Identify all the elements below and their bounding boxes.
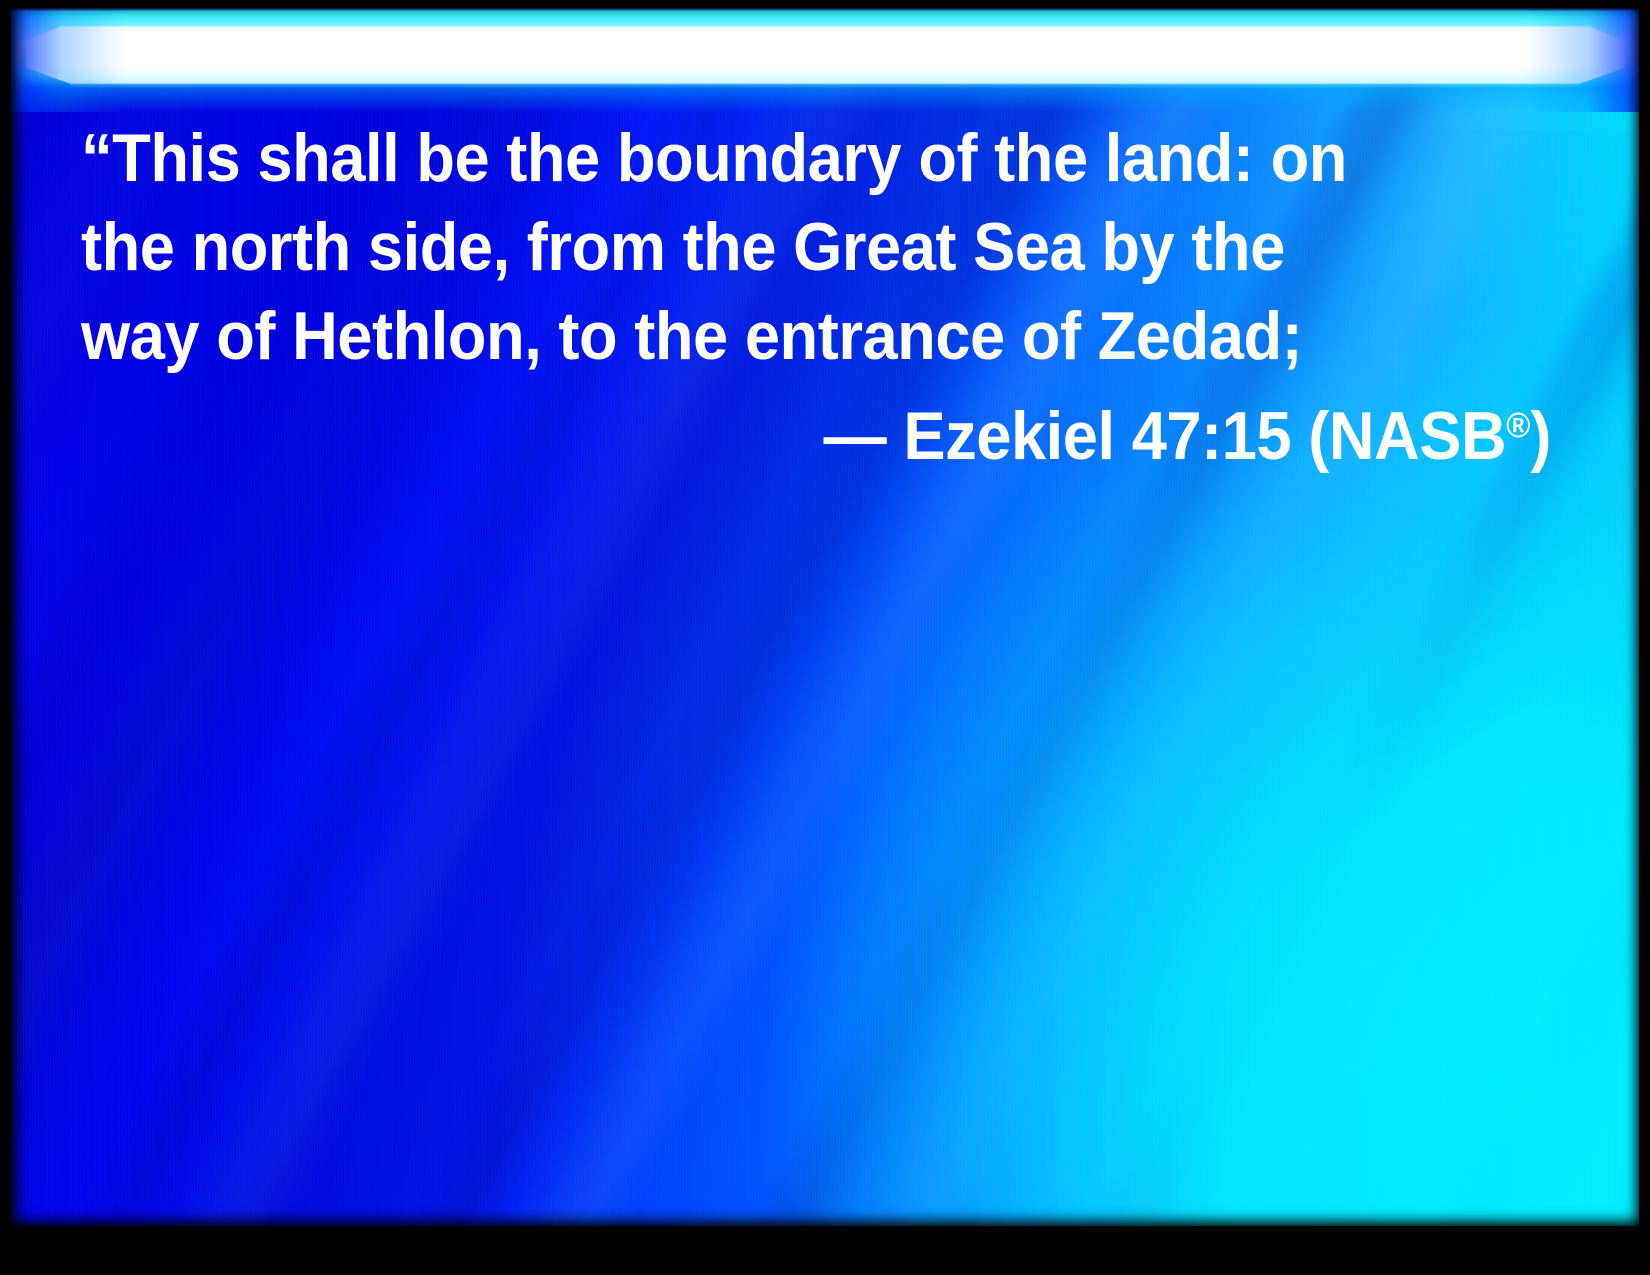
top-hairline [11, 8, 1639, 11]
verse-attribution: — Ezekiel 47:15 (NASB®) [184, 381, 1551, 481]
verse-attribution-suffix: ) [1530, 398, 1551, 474]
verse-line-3: way of Hethlon, to the entrance of Zedad… [81, 292, 1448, 381]
verse-line-2: the north side, from the Great Sea by th… [81, 203, 1448, 292]
verse-text-block: “This shall be the boundary of the land:… [81, 114, 1551, 481]
verse-line-1: “This shall be the boundary of the land:… [81, 114, 1448, 203]
verse-attribution-prefix: — Ezekiel 47:15 (NASB [824, 398, 1507, 474]
registered-trademark-icon: ® [1506, 406, 1530, 445]
verse-slide: “This shall be the boundary of the land:… [0, 0, 1650, 1275]
slide-stage: “This shall be the boundary of the land:… [11, 8, 1639, 1226]
